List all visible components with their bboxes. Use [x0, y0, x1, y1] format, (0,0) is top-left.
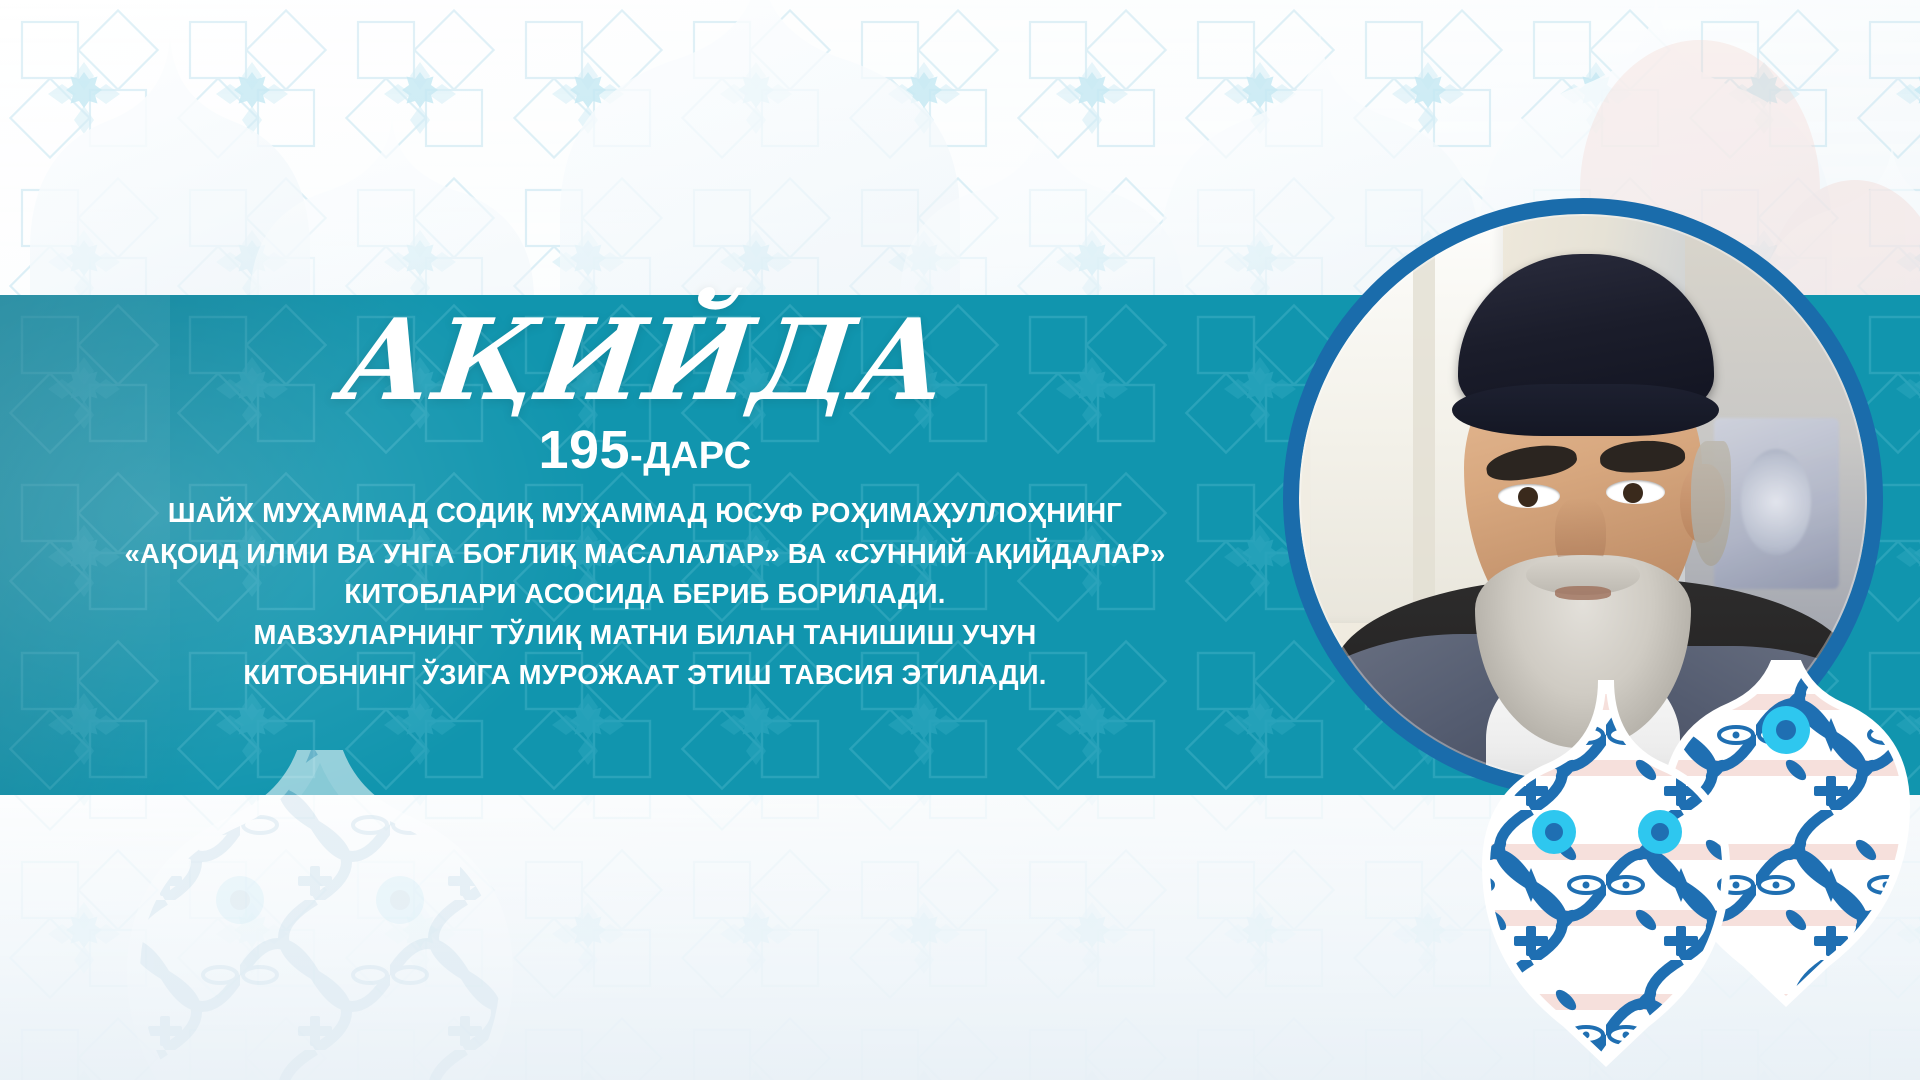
lesson-number-label: 195-ДАРС — [538, 423, 751, 477]
bottom-left-ornament — [0, 750, 700, 1080]
lesson-suffix: -ДАРС — [630, 435, 752, 477]
description-line: КИТОБЛАРИ АСОСИДА БЕРИБ БОРИЛАДИ. — [344, 580, 945, 608]
page-title: АҚИЙДА — [335, 305, 955, 417]
poster-canvas: АҚИЙДА 195-ДАРС ШАЙХ МУҲАММАД СОДИҚ МУҲА… — [0, 0, 1920, 1080]
bottom-right-ornament — [1456, 660, 1920, 1080]
poster-text-block: АҚИЙДА 195-ДАРС ШАЙХ МУҲАММАД СОДИҚ МУҲА… — [0, 295, 1290, 795]
description-block: ШАЙХ МУҲАММАД СОДИҚ МУҲАММАД ЮСУФ РОҲИМА… — [0, 499, 1290, 689]
lesson-number: 195 — [538, 420, 630, 480]
description-line: МАВЗУЛАРНИНГ ТЎЛИҚ МАТНИ БИЛАН ТАНИШИШ У… — [254, 621, 1037, 649]
description-line: «АҚОИД ИЛМИ ВА УНГА БОҒЛИҚ МАСАЛАЛАР» ВА… — [125, 540, 1166, 568]
description-line: ШАЙХ МУҲАММАД СОДИҚ МУҲАММАД ЮСУФ РОҲИМА… — [168, 499, 1122, 527]
description-line: КИТОБНИНГ ЎЗИГА МУРОЖААТ ЭТИШ ТАВСИЯ ЭТИ… — [243, 661, 1046, 689]
